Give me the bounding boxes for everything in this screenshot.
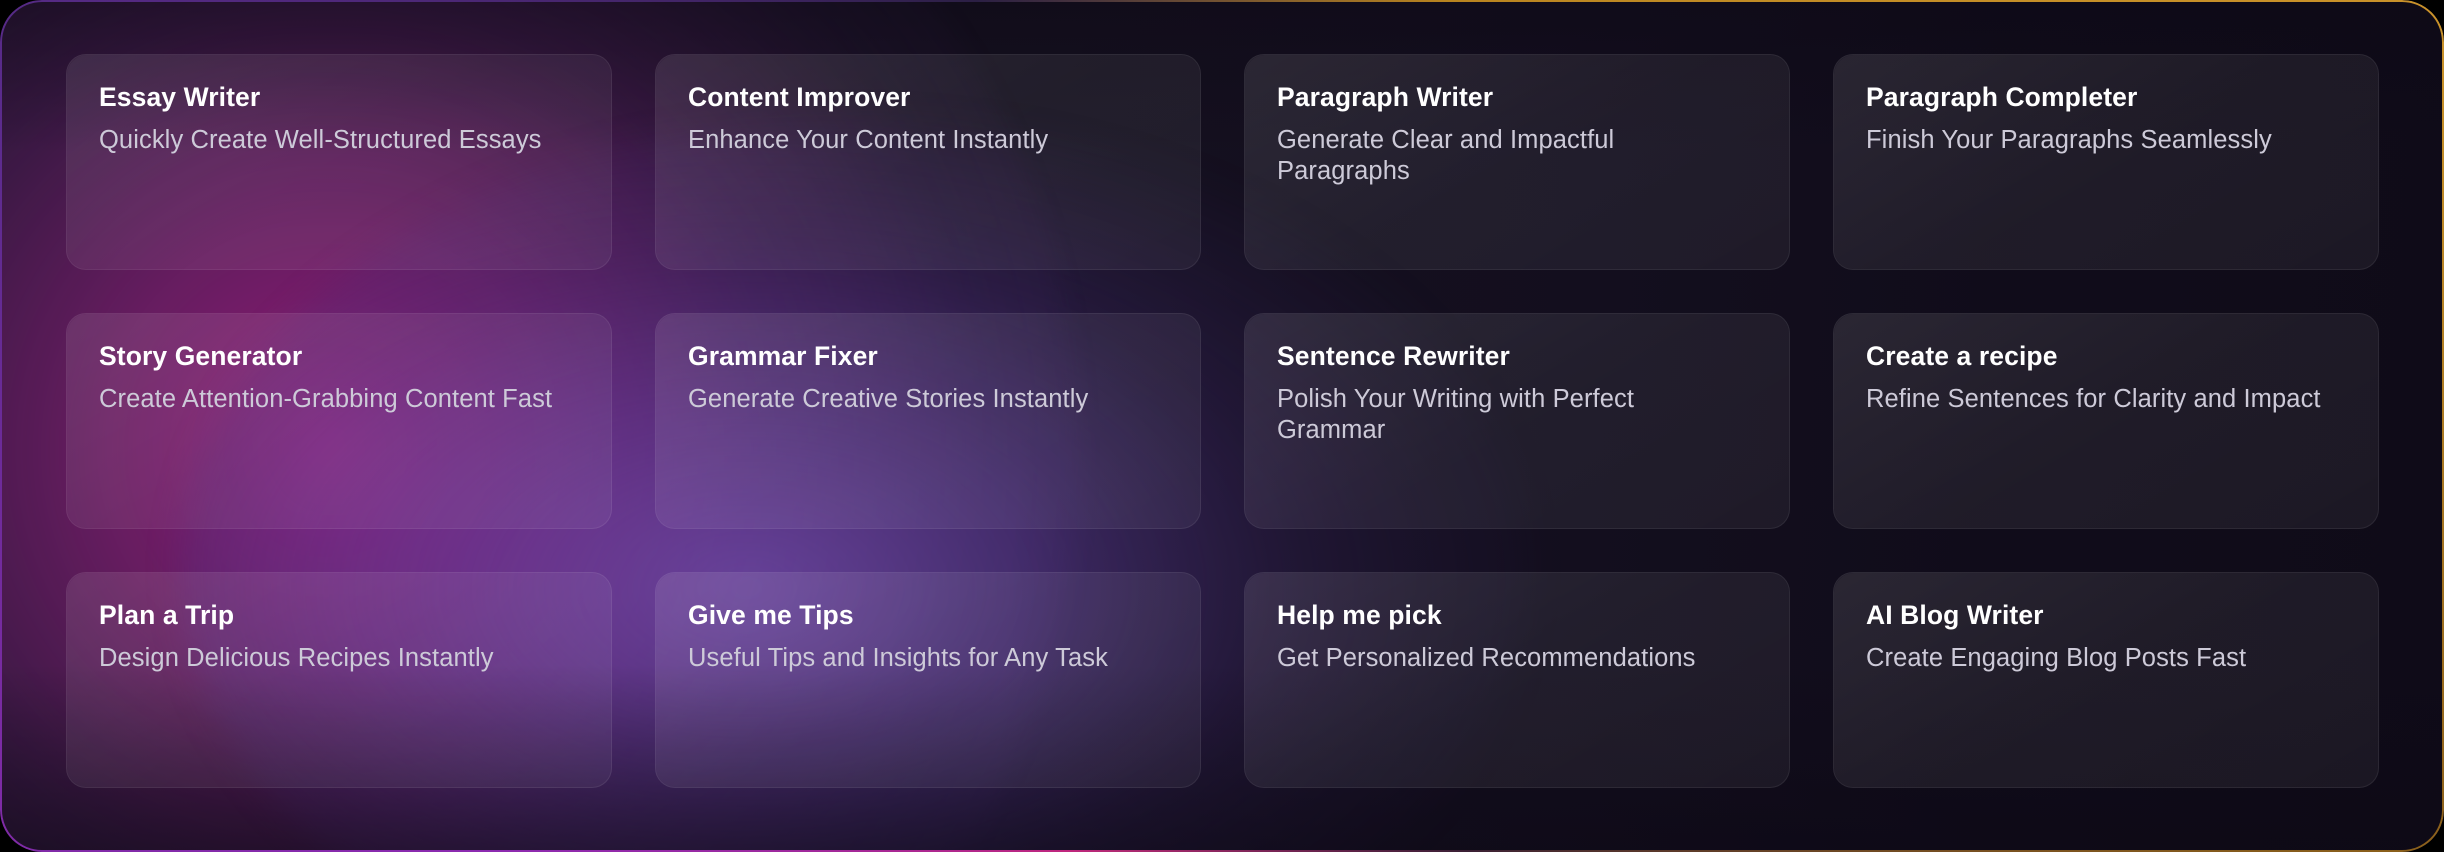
prompt-card-title: Content Improver — [688, 83, 1170, 113]
prompt-card-description: Useful Tips and Insights for Any Task — [688, 643, 1158, 675]
prompt-card-essay-writer[interactable]: Essay WriterQuickly Create Well-Structur… — [66, 54, 612, 270]
prompt-card-give-me-tips[interactable]: Give me TipsUseful Tips and Insights for… — [655, 572, 1201, 788]
prompt-card-create-a-recipe[interactable]: Create a recipeRefine Sentences for Clar… — [1833, 313, 2379, 529]
prompt-card-title: AI Blog Writer — [1866, 601, 2348, 631]
prompt-card-description: Finish Your Paragraphs Seamlessly — [1866, 125, 2336, 157]
prompt-card-title: Help me pick — [1277, 601, 1759, 631]
prompt-card-content-improver[interactable]: Content ImproverEnhance Your Content Ins… — [655, 54, 1201, 270]
prompt-card-description: Design Delicious Recipes Instantly — [99, 643, 569, 675]
prompt-card-title: Plan a Trip — [99, 601, 581, 631]
prompt-card-description: Generate Clear and Impactful Paragraphs — [1277, 125, 1747, 188]
prompt-card-description: Generate Creative Stories Instantly — [688, 384, 1158, 416]
prompt-card-description: Create Attention-Grabbing Content Fast — [99, 384, 569, 416]
prompt-card-description: Quickly Create Well-Structured Essays — [99, 125, 569, 157]
prompt-card-title: Paragraph Writer — [1277, 83, 1759, 113]
prompt-card-title: Give me Tips — [688, 601, 1170, 631]
prompt-card-paragraph-completer[interactable]: Paragraph CompleterFinish Your Paragraph… — [1833, 54, 2379, 270]
prompt-card-paragraph-writer[interactable]: Paragraph WriterGenerate Clear and Impac… — [1244, 54, 1790, 270]
prompt-card-grid: Essay WriterQuickly Create Well-Structur… — [66, 54, 2378, 788]
prompt-card-ai-blog-writer[interactable]: AI Blog WriterCreate Engaging Blog Posts… — [1833, 572, 2379, 788]
prompt-card-plan-a-trip[interactable]: Plan a TripDesign Delicious Recipes Inst… — [66, 572, 612, 788]
prompt-card-story-generator[interactable]: Story GeneratorCreate Attention-Grabbing… — [66, 313, 612, 529]
prompt-card-description: Refine Sentences for Clarity and Impact — [1866, 384, 2336, 416]
prompt-card-description: Polish Your Writing with Perfect Grammar — [1277, 384, 1747, 447]
prompt-card-description: Get Personalized Recommendations — [1277, 643, 1747, 675]
prompt-card-title: Paragraph Completer — [1866, 83, 2348, 113]
prompt-card-description: Enhance Your Content Instantly — [688, 125, 1158, 157]
prompt-card-title: Essay Writer — [99, 83, 581, 113]
prompt-card-sentence-rewriter[interactable]: Sentence RewriterPolish Your Writing wit… — [1244, 313, 1790, 529]
prompt-card-title: Create a recipe — [1866, 342, 2348, 372]
prompt-card-help-me-pick[interactable]: Help me pickGet Personalized Recommendat… — [1244, 572, 1790, 788]
prompt-card-title: Story Generator — [99, 342, 581, 372]
prompt-card-title: Sentence Rewriter — [1277, 342, 1759, 372]
prompt-card-title: Grammar Fixer — [688, 342, 1170, 372]
prompt-card-description: Create Engaging Blog Posts Fast — [1866, 643, 2336, 675]
prompt-card-grammar-fixer[interactable]: Grammar FixerGenerate Creative Stories I… — [655, 313, 1201, 529]
prompt-suggestions-panel: Essay WriterQuickly Create Well-Structur… — [0, 0, 2444, 852]
